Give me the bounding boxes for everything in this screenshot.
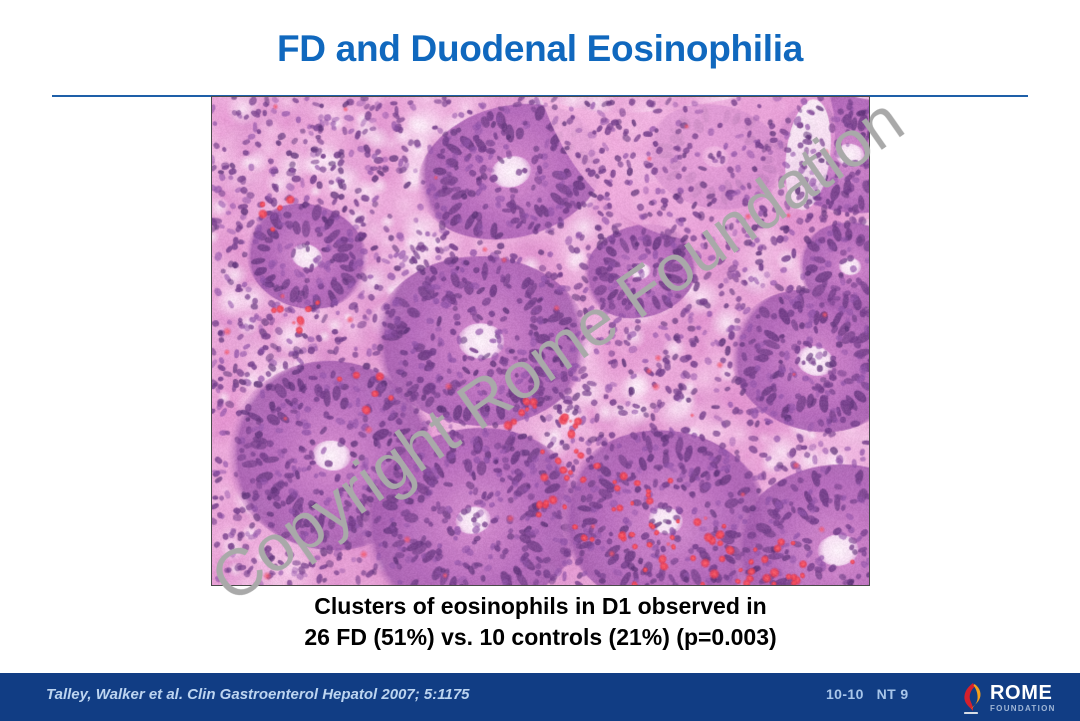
page-title: FD and Duodenal Eosinophilia [0, 28, 1080, 70]
rome-logo-name: ROME [990, 683, 1056, 703]
footer-bar: Talley, Walker et al. Clin Gastroenterol… [0, 673, 1080, 721]
rome-logo-subtitle: FOUNDATION [990, 705, 1056, 713]
rome-foundation-logo: ROME FOUNDATION [958, 680, 1070, 716]
caption-line-1: Clusters of eosinophils in D1 observed i… [211, 591, 870, 622]
histology-image [211, 96, 870, 586]
image-caption: Clusters of eosinophils in D1 observed i… [211, 591, 870, 653]
slide-code: 10-10 NT 9 [826, 686, 909, 702]
slide-canvas: FD and Duodenal Eosinophilia Clusters of… [0, 0, 1080, 721]
citation-text: Talley, Walker et al. Clin Gastroenterol… [46, 686, 470, 703]
caption-line-2: 26 FD (51%) vs. 10 controls (21%) (p=0.0… [211, 622, 870, 653]
flame-icon [958, 682, 984, 715]
rome-wordmark: ROME FOUNDATION [990, 683, 1056, 713]
histology-canvas [212, 97, 869, 585]
